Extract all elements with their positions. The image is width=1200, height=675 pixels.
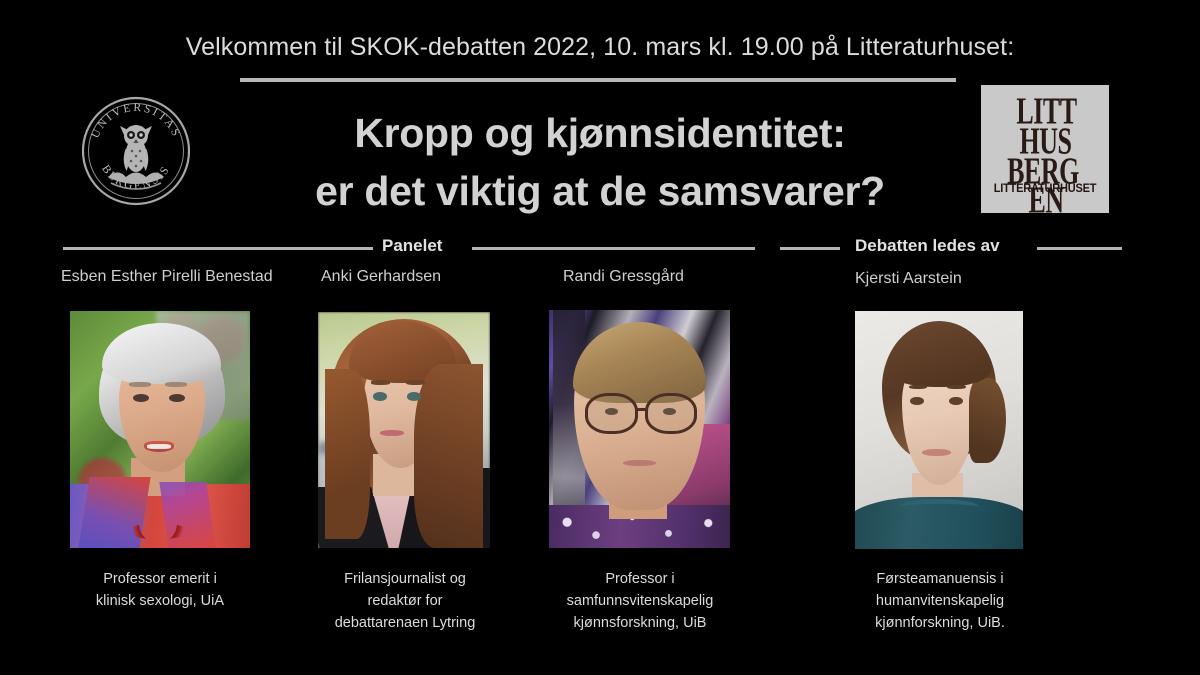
panelist-caption-3: Professor i samfunnsvitenskapelig kjønns… — [540, 568, 740, 634]
title-line-2: er det viktig at de samsvarer? — [215, 162, 985, 220]
panelist-caption-1: Professor emerit i klinisk sexologi, UiA — [60, 568, 260, 612]
uib-seal-logo: UNIVERSITAS BERGENSIS — [78, 93, 194, 209]
moderator-caption: Førsteamanuensis i humanvitenskapelig kj… — [840, 568, 1040, 634]
moderator-name: Kjersti Aarstein — [855, 270, 962, 288]
moderator-section-label: Debatten ledes av — [855, 236, 1000, 256]
moderator-photo — [855, 311, 1023, 549]
panelist-name-1: Esben Esther Pirelli Benestad — [61, 268, 273, 286]
panelist-photo-2 — [318, 312, 490, 548]
title-line-1: Kropp og kjønnsidentitet: — [354, 110, 845, 156]
welcome-line: Velkommen til SKOK-debatten 2022, 10. ma… — [0, 33, 1200, 62]
panelist-caption-2: Frilansjournalist og redaktør for debatt… — [305, 568, 505, 634]
panelist-name-2: Anki Gerhardsen — [321, 268, 441, 286]
poster-title: Kropp og kjønnsidentitet: er det viktig … — [215, 104, 985, 220]
moderator-section-header: Debatten ledes av — [0, 236, 1200, 258]
moderator-rule-right — [1037, 247, 1122, 250]
event-poster: Velkommen til SKOK-debatten 2022, 10. ma… — [0, 0, 1200, 675]
panelist-photo-3 — [549, 310, 730, 548]
header-divider — [240, 78, 956, 82]
moderator-rule-left — [780, 247, 840, 250]
litteraturhuset-wordmark: LITTERATURHUSET — [981, 183, 1109, 196]
panelist-photo-1 — [70, 311, 250, 548]
litteraturhuset-logo: LITT HUS BERG EN LITTERATURHUSET — [981, 85, 1109, 213]
panelist-name-3: Randi Gressgård — [563, 268, 684, 286]
